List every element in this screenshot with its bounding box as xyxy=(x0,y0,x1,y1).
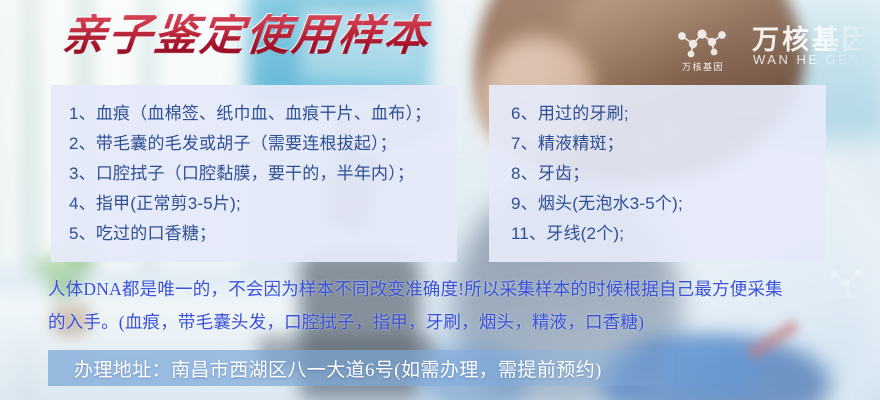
list-item: 8、牙齿； xyxy=(511,159,826,189)
address-banner: 办理地址：南昌市西湖区八一大道6号(如需办理，需提前预约) xyxy=(48,350,674,386)
note-line-2: 的入手。(血痕，带毛囊头发，口腔拭子，指甲，牙刷，烟头，精液，口香糖) xyxy=(48,306,838,339)
page-title: 亲子鉴定使用样本 xyxy=(60,14,433,58)
note-line-1: 人体DNA都是唯一的，不会因为样本不同改变准确度!所以采集样本的时候根据自己最方… xyxy=(48,273,838,306)
sample-list-panel-left: 1、血痕（血棉签、纸巾血、血痕干片、血布）； 2、带毛囊的毛发或胡子（需要连根拔… xyxy=(51,85,457,262)
list-item: 7、精液精斑； xyxy=(511,129,826,159)
sample-list-right: 6、用过的牙刷; 7、精液精斑； 8、牙齿； 9、烟头(无泡水3-5个); 11… xyxy=(511,99,826,249)
sample-list-panel-right: 6、用过的牙刷; 7、精液精斑； 8、牙齿； 9、烟头(无泡水3-5个); 11… xyxy=(489,85,826,262)
list-item: 6、用过的牙刷; xyxy=(511,99,826,129)
list-item: 5、吃过的口香糖； xyxy=(69,219,457,249)
logo-mark-label: 万核基因 xyxy=(668,60,738,73)
list-item: 1、血痕（血棉签、纸巾血、血痕干片、血布）； xyxy=(69,99,457,129)
brand-name-en: WAN HE GENE xyxy=(753,52,872,67)
list-item: 3、口腔拭子（口腔黏膜，要干的，半年内）； xyxy=(69,159,457,189)
address-text: 办理地址：南昌市西湖区八一大道6号(如需办理，需提前预约) xyxy=(74,355,602,382)
note-paragraph: 人体DNA都是唯一的，不会因为样本不同改变准确度!所以采集样本的时候根据自己最方… xyxy=(48,273,838,339)
list-item: 11、牙线(2个); xyxy=(511,219,826,249)
list-item: 2、带毛囊的毛发或胡子（需要连根拔起）； xyxy=(69,129,457,159)
molecule-icon xyxy=(676,22,728,64)
list-item: 9、烟头(无泡水3-5个); xyxy=(511,189,826,219)
sample-list-left: 1、血痕（血棉签、纸巾血、血痕干片、血布）； 2、带毛囊的毛发或胡子（需要连根拔… xyxy=(69,99,457,249)
poster-root: 亲子鉴定使用样本 万核基因 万核基因 WAN HE GENE 万核基因 WAN … xyxy=(0,0,880,400)
list-item: 4、指甲(正常剪3-5片); xyxy=(69,189,457,219)
